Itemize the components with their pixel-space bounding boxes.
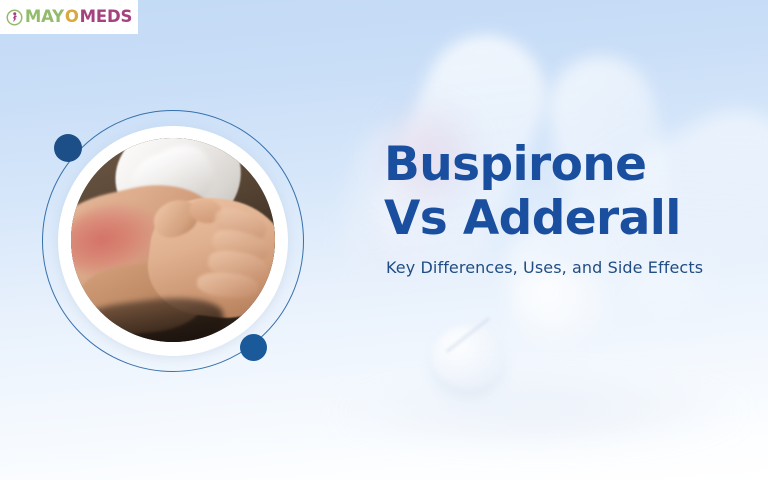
logo-text-meds: MEDS bbox=[80, 9, 132, 26]
round-tablet-shape bbox=[432, 325, 504, 389]
logo-text-may: MAY bbox=[25, 9, 64, 26]
decorative-dot-bottom-right bbox=[240, 334, 267, 361]
article-hero-banner: MAY O MEDS bbox=[0, 0, 768, 480]
decorative-dot-top-left bbox=[54, 134, 82, 162]
page-subtitle: Key Differences, Uses, and Side Effects bbox=[386, 258, 744, 277]
site-logo[interactable]: MAY O MEDS bbox=[0, 0, 138, 34]
headline-block: Buspirone Vs Adderall Key Differences, U… bbox=[384, 138, 744, 277]
tablet-score-line bbox=[446, 318, 490, 353]
soft-shadow bbox=[330, 372, 750, 452]
hero-photo-composition bbox=[42, 110, 308, 376]
page-title: Buspirone Vs Adderall bbox=[384, 138, 744, 245]
mayomeds-person-circle-icon bbox=[6, 9, 23, 26]
hero-photo bbox=[71, 138, 275, 342]
photo-illustration bbox=[71, 138, 275, 342]
pill-bottle-shape-1 bbox=[510, 270, 606, 348]
logo-text-o: O bbox=[65, 9, 79, 26]
